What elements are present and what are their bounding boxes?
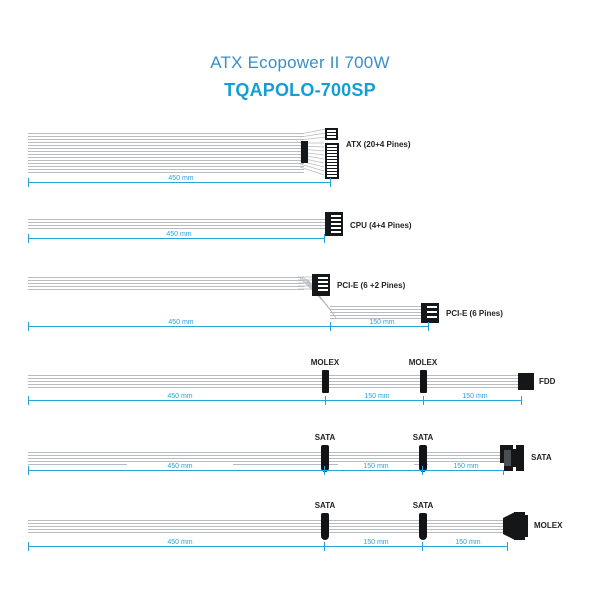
label-sata-inline-3: SATA (300, 501, 350, 510)
dimension-label-sata-molex-1: 450 mm (127, 539, 233, 546)
label-sata-terminal: SATA (531, 453, 552, 462)
dimension-label-molex-fdd-3: 150 mm (437, 393, 513, 400)
dimension-label-pcie-branch: 150 mm (344, 319, 420, 326)
cable-bundle-atx (28, 133, 304, 173)
connector-molex-inline-1 (322, 370, 329, 393)
label-cpu: CPU (4+4 Pines) (350, 221, 412, 230)
label-sata-inline-2: SATA (398, 433, 448, 442)
dimension-label-sata-molex-3: 150 mm (430, 539, 506, 546)
cable-bundle-cpu (28, 219, 326, 229)
label-molex-inline-1: MOLEX (297, 358, 353, 367)
connector-atx-20pin (325, 143, 339, 179)
dimension-label-molex-fdd-2: 150 mm (339, 393, 415, 400)
dimension-label-molex-fdd-1: 450 mm (127, 393, 233, 400)
connector-molex-inline-2 (420, 370, 427, 393)
diagram-canvas: ATX Ecopower II 700W TQAPOLO-700SP (0, 0, 600, 600)
dimension-label-sata-molex-2: 150 mm (338, 539, 414, 546)
label-molex-terminal: MOLEX (534, 521, 562, 530)
cable-bundle-molex-fdd (28, 375, 518, 388)
page-title: ATX Ecopower II 700W (0, 53, 600, 73)
connector-sata-inline-3 (321, 513, 329, 540)
label-sata-inline-1: SATA (300, 433, 350, 442)
label-pcie-6pin: PCI-E (6 Pines) (446, 309, 503, 318)
dimension-label-atx: 450 mm (128, 175, 234, 182)
connector-pcie-8pin (312, 274, 330, 296)
dimension-label-sata-sata-3: 150 mm (428, 463, 504, 470)
connector-fdd-terminal (518, 373, 534, 390)
label-pcie-8pin: PCI-E (6 +2 Pines) (337, 281, 405, 290)
label-molex-inline-2: MOLEX (395, 358, 451, 367)
label-atx: ATX (20+4 Pines) (346, 140, 411, 149)
dimension-label-cpu: 450 mm (126, 231, 232, 238)
cable-bundle-sata-molex (28, 520, 508, 533)
connector-sata-inline-4 (419, 513, 427, 540)
connector-atx-4pin (325, 128, 338, 140)
cable-bundle-pcie-branch (330, 306, 422, 319)
product-model: TQAPOLO-700SP (0, 80, 600, 101)
label-sata-inline-4: SATA (398, 501, 448, 510)
connector-cpu-8pin (325, 212, 343, 236)
connector-molex-terminal (503, 511, 529, 541)
connector-atx-base (301, 141, 308, 163)
cable-bundle-pcie (28, 277, 304, 290)
dimension-label-sata-sata-1: 450 mm (127, 463, 233, 470)
label-fdd: FDD (539, 377, 555, 386)
dimension-label-pcie-main: 450 mm (128, 319, 234, 326)
connector-pcie-6pin (421, 303, 439, 323)
dimension-label-sata-sata-2: 150 mm (338, 463, 414, 470)
